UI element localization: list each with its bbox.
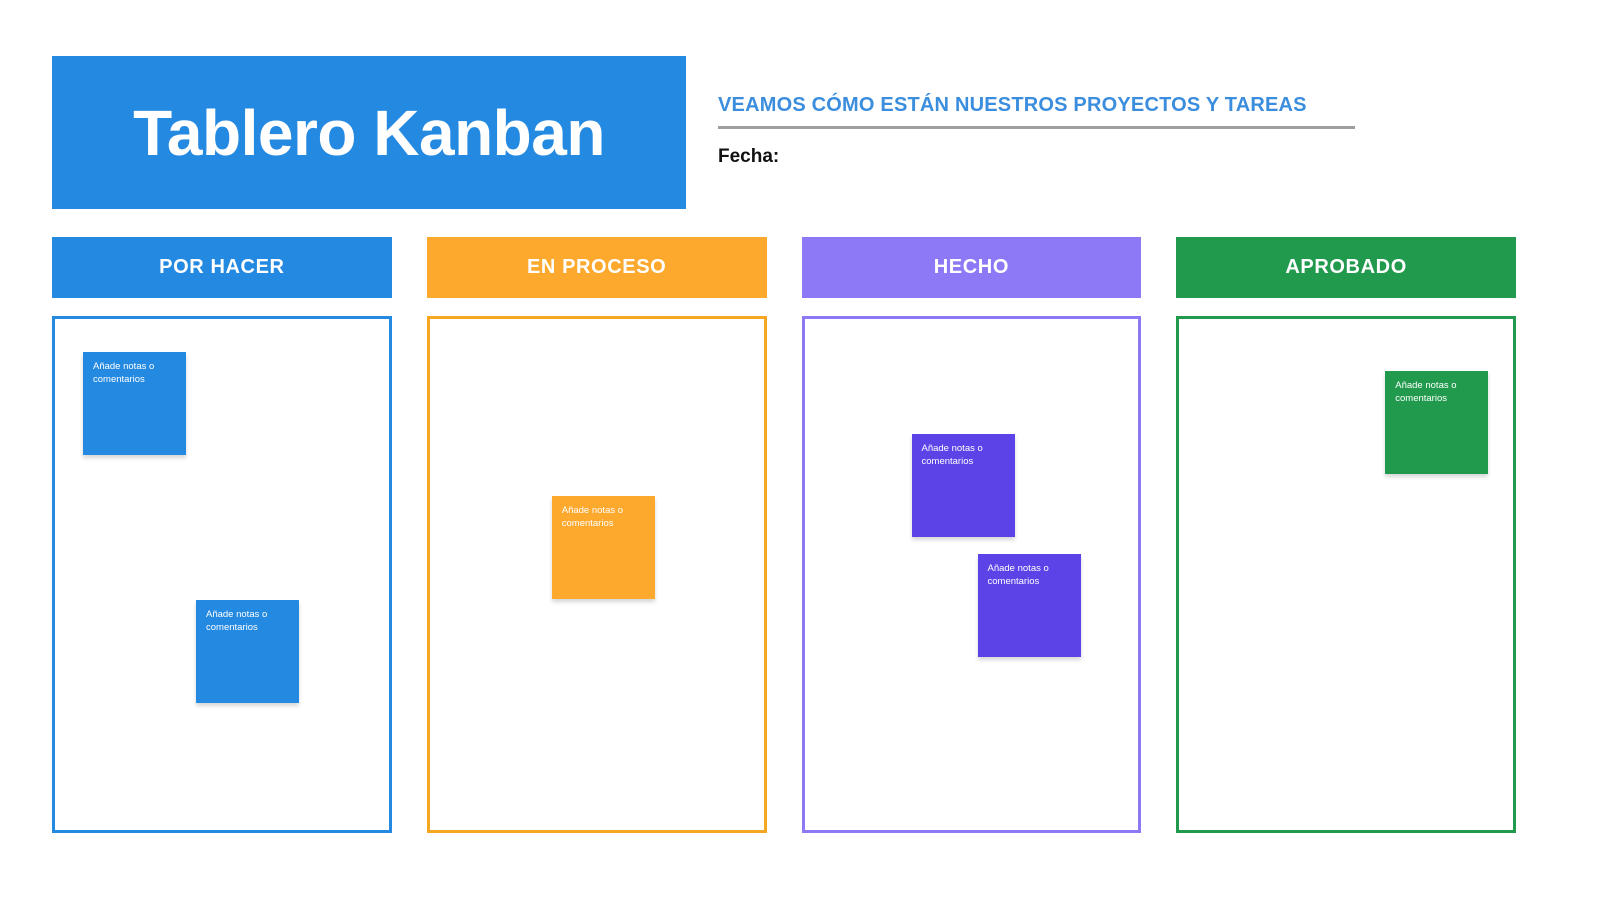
column-header-aprobado[interactable]: APROBADO — [1176, 237, 1516, 298]
header-meta: VEAMOS CÓMO ESTÁN NUESTROS PROYECTOS Y T… — [718, 93, 1358, 168]
column-header-por-hacer[interactable]: POR HACER — [52, 237, 392, 298]
kanban-column-hecho: HECHOAñade notas o comentariosAñade nota… — [802, 237, 1142, 833]
sticky-note[interactable]: Añade notas o comentarios — [978, 554, 1081, 657]
sticky-note-text[interactable]: Añade notas o comentarios — [93, 361, 176, 387]
column-header-label: EN PROCESO — [527, 256, 666, 279]
sticky-note-text[interactable]: Añade notas o comentarios — [1395, 380, 1478, 406]
sticky-note[interactable]: Añade notas o comentarios — [196, 600, 299, 703]
page-title: Tablero Kanban — [133, 101, 605, 165]
column-body-en-proceso[interactable]: Añade notas o comentarios — [427, 316, 767, 833]
sticky-note-text[interactable]: Añade notas o comentarios — [562, 505, 645, 531]
column-header-hecho[interactable]: HECHO — [802, 237, 1142, 298]
column-header-label: POR HACER — [159, 256, 284, 279]
sticky-note-text[interactable]: Añade notas o comentarios — [206, 609, 289, 635]
sticky-note[interactable]: Añade notas o comentarios — [912, 434, 1015, 537]
sticky-note-text[interactable]: Añade notas o comentarios — [922, 443, 1005, 469]
column-header-en-proceso[interactable]: EN PROCESO — [427, 237, 767, 298]
board-title-block: Tablero Kanban — [52, 56, 686, 209]
sticky-note[interactable]: Añade notas o comentarios — [552, 496, 655, 599]
column-body-hecho[interactable]: Añade notas o comentariosAñade notas o c… — [802, 316, 1142, 833]
column-body-aprobado[interactable]: Añade notas o comentarios — [1176, 316, 1516, 833]
kanban-column-aprobado: APROBADOAñade notas o comentarios — [1176, 237, 1516, 833]
kanban-board: POR HACERAñade notas o comentariosAñade … — [52, 237, 1516, 833]
sticky-note[interactable]: Añade notas o comentarios — [83, 352, 186, 455]
kanban-column-por-hacer: POR HACERAñade notas o comentariosAñade … — [52, 237, 392, 833]
column-header-label: HECHO — [934, 256, 1009, 279]
board-subtitle: VEAMOS CÓMO ESTÁN NUESTROS PROYECTOS Y T… — [718, 93, 1358, 117]
column-header-label: APROBADO — [1285, 256, 1406, 279]
column-body-por-hacer[interactable]: Añade notas o comentariosAñade notas o c… — [52, 316, 392, 833]
kanban-column-en-proceso: EN PROCESOAñade notas o comentarios — [427, 237, 767, 833]
sticky-note-text[interactable]: Añade notas o comentarios — [988, 563, 1071, 589]
date-label: Fecha: — [718, 146, 779, 167]
date-field[interactable]: Fecha: — [718, 146, 1358, 168]
subtitle-divider — [718, 126, 1355, 129]
sticky-note[interactable]: Añade notas o comentarios — [1385, 371, 1488, 474]
